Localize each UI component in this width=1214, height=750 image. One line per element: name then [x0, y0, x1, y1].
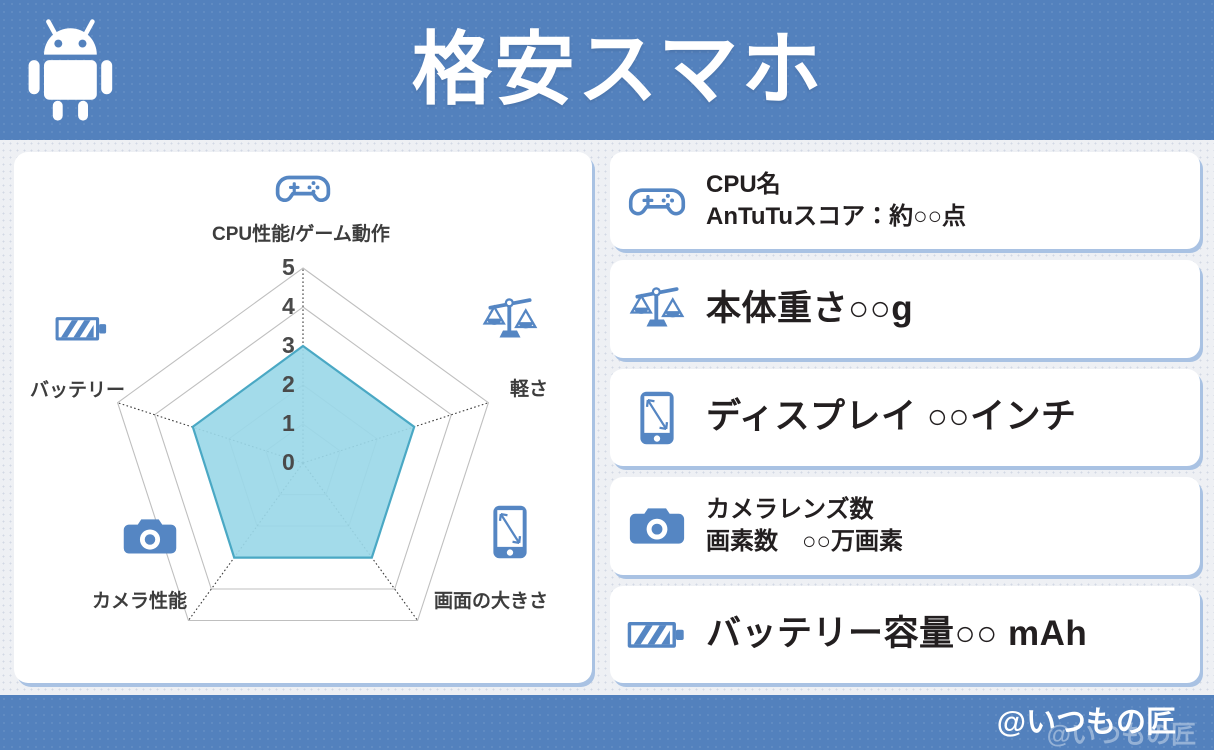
spec-line-weight: 本体重さ○○g — [706, 286, 913, 332]
radar-axis-label-camera: カメラ性能 — [92, 592, 187, 611]
radar-axis-label-battery: バッテリー — [30, 381, 125, 400]
spec-row-camera[interactable]: カメラレンズ数 画素数 ○○万画素 — [610, 477, 1200, 574]
spec-icon-wrap-cpu — [626, 172, 688, 230]
page-title: 格安スマホ — [132, 30, 1214, 110]
gamepad-icon — [275, 160, 331, 216]
spec-line-battery: バッテリー容量○○ mAh — [706, 611, 1087, 657]
spec-line-camera-lenses: カメラレンズ数 — [706, 494, 903, 526]
radar-tick-3: 3 — [282, 334, 295, 357]
camera-icon — [628, 502, 686, 549]
spec-row-display[interactable]: ディスプレイ ○○インチ — [610, 369, 1200, 466]
radar-axis-label-cpu: CPU性能/ゲーム動作 — [212, 225, 390, 244]
radar-tick-5: 5 — [282, 256, 295, 279]
spec-icon-wrap-battery — [626, 605, 688, 663]
android-robot-icon — [22, 15, 132, 125]
scales-icon — [629, 281, 685, 337]
spec-icon-wrap-weight — [626, 280, 688, 338]
gamepad-outline-icon — [628, 179, 686, 223]
radar-chart-stage: 5 4 3 2 1 0 CPU性能/ゲーム動作 — [14, 152, 592, 683]
main-content: 5 4 3 2 1 0 CPU性能/ゲーム動作 — [0, 140, 1214, 695]
spec-line-camera-pixels: 画素数 ○○万画素 — [706, 526, 903, 558]
radar-data-polygon — [193, 346, 414, 558]
phone-diagonal-icon — [636, 390, 678, 446]
radar-tick-0: 0 — [282, 451, 295, 474]
radar-tick-2: 2 — [282, 373, 295, 396]
spec-text-camera: カメラレンズ数 画素数 ○○万画素 — [706, 494, 903, 557]
spec-text-battery: バッテリー容量○○ mAh — [706, 611, 1087, 657]
spec-icon-wrap-display — [626, 389, 688, 447]
phone-diagonal-icon — [482, 504, 538, 560]
battery-icon — [626, 615, 688, 653]
scales-icon — [482, 292, 538, 348]
radar-axis-label-light: 軽さ — [510, 380, 548, 399]
spec-row-cpu[interactable]: CPU名 AnTuTuスコア：約○○点 — [610, 152, 1200, 249]
spec-icon-wrap-camera — [626, 497, 688, 555]
footer-handle: @いつもの匠 — [997, 708, 1176, 738]
page-footer: @いつもの匠 @いつもの匠 — [0, 695, 1214, 750]
radar-chart-card: 5 4 3 2 1 0 CPU性能/ゲーム動作 — [14, 152, 592, 683]
spec-line-cpu-name: CPU名 — [706, 169, 966, 201]
battery-icon — [54, 300, 110, 356]
page-header: 格安スマホ — [0, 0, 1214, 140]
spec-list: CPU名 AnTuTuスコア：約○○点 — [610, 152, 1200, 683]
radar-axis-label-screen: 画面の大きさ — [434, 592, 548, 611]
spec-text-weight: 本体重さ○○g — [706, 286, 913, 332]
camera-icon — [122, 508, 178, 564]
spec-line-cpu-antutu: AnTuTuスコア：約○○点 — [706, 201, 966, 233]
radar-tick-4: 4 — [282, 295, 295, 318]
spec-text-display: ディスプレイ ○○インチ — [706, 394, 1077, 440]
radar-tick-1: 1 — [282, 412, 295, 435]
spec-row-battery[interactable]: バッテリー容量○○ mAh — [610, 586, 1200, 683]
spec-text-cpu: CPU名 AnTuTuスコア：約○○点 — [706, 169, 966, 232]
spec-line-display: ディスプレイ ○○インチ — [706, 394, 1077, 440]
spec-row-weight[interactable]: 本体重さ○○g — [610, 260, 1200, 357]
